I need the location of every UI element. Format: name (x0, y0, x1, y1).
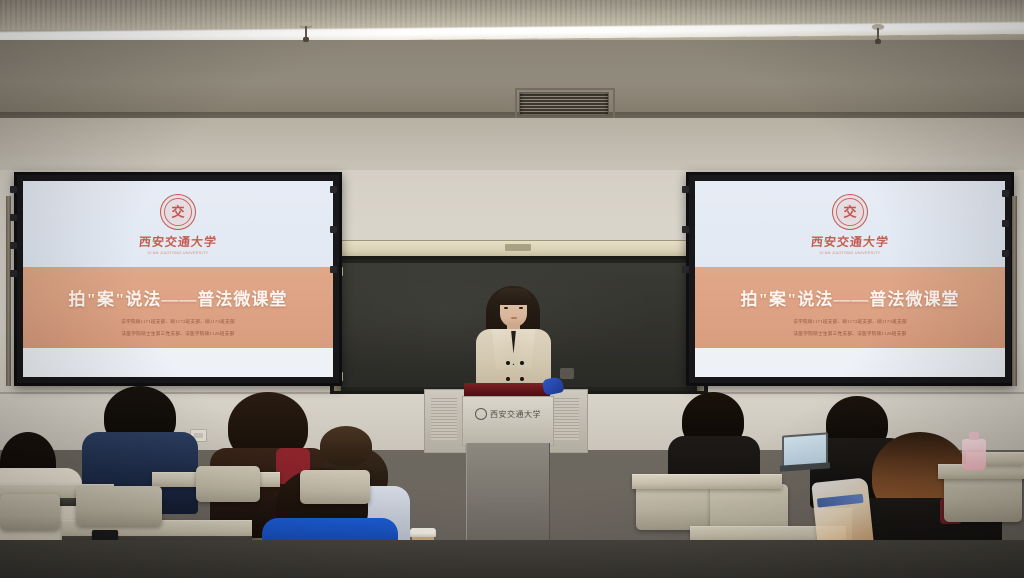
lectern-speaker-grille (431, 398, 457, 440)
screen-bracket (10, 214, 17, 221)
back-wall-upper-band (0, 118, 1024, 170)
screen-bracket (1002, 190, 1009, 197)
university-name-text: 西安交通大学 (138, 233, 218, 250)
cup-lid (410, 528, 436, 537)
ceiling-sprinkler-icon (304, 22, 308, 40)
presenting-student (470, 282, 556, 392)
pink-water-bottle (962, 432, 986, 470)
lectern-speaker-grille (553, 398, 579, 440)
projection-screen-left: 交 西安交通大学 XI'AN JIAOTONG UNIVERSITY 拍"案"说… (14, 172, 342, 386)
desk-object-jar (560, 368, 574, 379)
presentation-slide-left: 交 西安交通大学 XI'AN JIAOTONG UNIVERSITY 拍"案"说… (23, 181, 333, 377)
lectern-plaque-text: 西安交通大学 (490, 410, 541, 419)
screen-surface-right: 交 西安交通大学 XI'AN JIAOTONG UNIVERSITY 拍"案"说… (695, 181, 1005, 377)
university-seal-icon: 交 (832, 194, 868, 230)
chair-back[interactable] (0, 494, 60, 530)
slide-subtitle-line-2: 法医学院硕士生第三党支部、法医学院硕1126班支部 (23, 331, 333, 337)
lecture-hall-photo: 交 西安交通大学 XI'AN JIAOTONG UNIVERSITY 拍"案"说… (0, 0, 1024, 578)
lectern-speaker-panel-left (424, 389, 466, 453)
screen-bracket (330, 186, 337, 193)
screen-bracket (10, 270, 17, 277)
coat-button (506, 377, 510, 381)
screen-surface-left: 交 西安交通大学 XI'AN JIAOTONG UNIVERSITY 拍"案"说… (23, 181, 333, 377)
slide-subtitle-line-1: 法学院硕1171班支部、硕1172班支部、硕1173班支部 (23, 319, 333, 325)
lectern-seal-icon (475, 408, 487, 420)
speaker-eye-right (519, 307, 523, 309)
desk-surface (632, 474, 782, 489)
slide-title-text: 拍"案"说法——普法微课堂 (23, 285, 333, 310)
speaker-lapel-left (492, 329, 515, 369)
slide-header-right: 交 西安交通大学 XI'AN JIAOTONG UNIVERSITY (695, 181, 1005, 267)
screen-bracket (682, 266, 689, 273)
slide-footer-right (695, 348, 1005, 377)
screen-bracket (1002, 250, 1009, 257)
open-laptop[interactable] (782, 434, 828, 470)
screen-bracket (10, 242, 17, 249)
floor (0, 540, 1024, 578)
university-logo: 交 西安交通大学 XI'AN JIAOTONG UNIVERSITY (811, 194, 889, 255)
coat-button (520, 377, 524, 381)
chair-back[interactable] (300, 470, 370, 504)
screen-support-pole-left (6, 196, 11, 386)
slide-title-band-right: 拍"案"说法——普法微课堂 法学院硕1171班支部、硕1172班支部、硕1173… (695, 267, 1005, 347)
university-name-latin: XI'AN JIAOTONG UNIVERSITY (148, 251, 209, 255)
slide-header-left: 交 西安交通大学 XI'AN JIAOTONG UNIVERSITY (23, 181, 333, 267)
student-head (320, 426, 372, 466)
screen-support-pole-right (1012, 196, 1017, 386)
university-seal-icon: 交 (160, 194, 196, 230)
speaker-eye-left (504, 307, 508, 309)
chair-back[interactable] (76, 486, 162, 526)
seal-glyph: 交 (843, 205, 856, 218)
chalk-rail-notch (505, 244, 531, 251)
slide-subtitle-line-2: 法医学院硕士生第三党支部、法医学院硕1126班支部 (695, 331, 1005, 337)
coat-button (506, 361, 510, 365)
slide-subtitle-line-1: 法学院硕1171班支部、硕1172班支部、硕1173班支部 (695, 319, 1005, 325)
ceiling-panel-lower (0, 40, 1024, 118)
coat-button (520, 361, 524, 365)
lectern-plaque: 西安交通大学 (463, 409, 553, 421)
slide-title-text: 拍"案"说法——普法微课堂 (695, 285, 1005, 310)
speaker-fringe (496, 288, 531, 305)
lectern-front-panel: 西安交通大学 (462, 396, 554, 446)
bottle-body (962, 439, 986, 470)
chair-back[interactable] (196, 466, 260, 502)
lectern-top-trim (464, 383, 550, 397)
bottle-cap (969, 432, 979, 440)
university-name-latin: XI'AN JIAOTONG UNIVERSITY (820, 251, 881, 255)
university-name-text: 西安交通大学 (810, 233, 890, 250)
screen-bracket (330, 226, 337, 233)
screen-bracket (330, 266, 337, 273)
slide-footer-left (23, 348, 333, 377)
slide-title-band-left: 拍"案"说法——普法微课堂 法学院硕1171班支部、硕1172班支部、硕1173… (23, 267, 333, 347)
screen-bracket (682, 186, 689, 193)
projection-screen-right: 交 西安交通大学 XI'AN JIAOTONG UNIVERSITY 拍"案"说… (686, 172, 1014, 386)
ceiling-sprinkler-icon (876, 24, 880, 42)
air-conditioning-vent (519, 92, 609, 116)
snack-bag-label (817, 494, 864, 508)
presentation-slide-right: 交 西安交通大学 XI'AN JIAOTONG UNIVERSITY 拍"案"说… (695, 181, 1005, 377)
screen-bracket (1002, 220, 1009, 227)
university-logo: 交 西安交通大学 XI'AN JIAOTONG UNIVERSITY (139, 194, 217, 255)
seal-glyph: 交 (171, 205, 184, 218)
speaker-mouth (511, 317, 517, 319)
screen-bracket (10, 186, 17, 193)
screen-bracket (682, 226, 689, 233)
